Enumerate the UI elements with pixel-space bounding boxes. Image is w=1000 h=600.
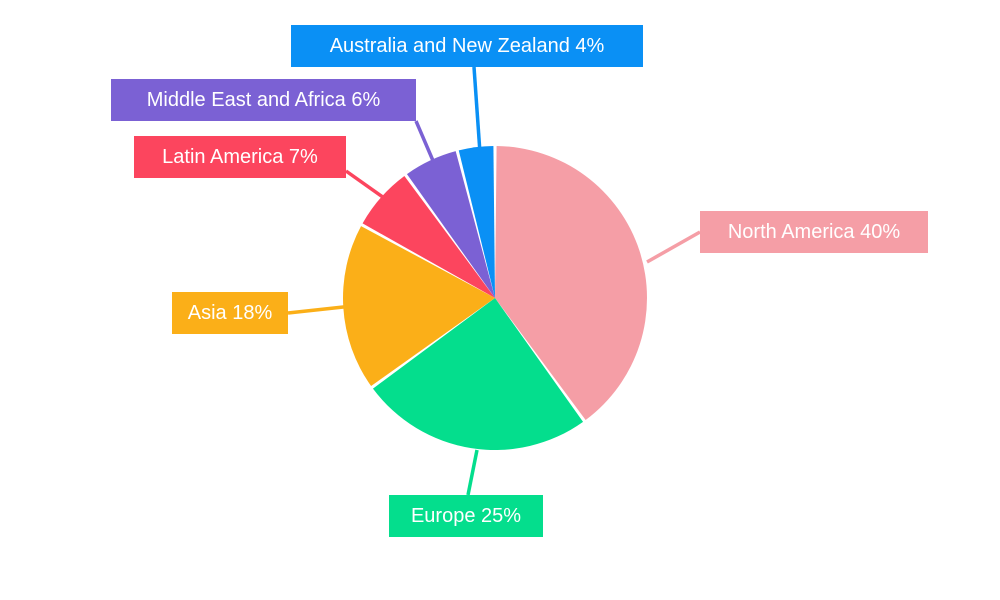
pie-slices: [343, 146, 647, 450]
slice-label-europe: Europe 25%: [389, 495, 543, 537]
slice-label-latin-america: Latin America 7%: [134, 136, 346, 178]
leader-line-north-america: [647, 232, 700, 262]
pie-chart-figure: North America 40%Europe 25%Asia 18%Latin…: [0, 0, 1000, 600]
slice-label-asia: Asia 18%: [172, 292, 288, 334]
leader-line-europe: [468, 450, 477, 495]
slice-label-middle-east-and-africa: Middle East and Africa 6%: [111, 79, 416, 121]
slice-label-north-america: North America 40%: [700, 211, 928, 253]
leader-line-australia-and-new-zealand: [474, 67, 480, 153]
slice-label-australia-and-new-zealand: Australia and New Zealand 4%: [291, 25, 643, 67]
